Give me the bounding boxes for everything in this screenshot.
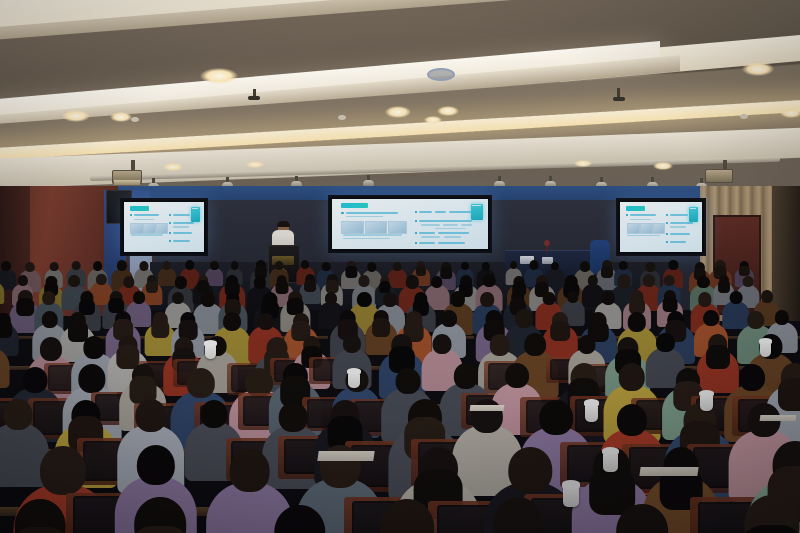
audience-member-hair bbox=[326, 280, 339, 293]
downlight-icon bbox=[424, 116, 442, 124]
audience-member bbox=[464, 497, 570, 533]
handout-paper[interactable] bbox=[317, 451, 374, 461]
audience-member-head bbox=[617, 274, 630, 288]
audience-member-head bbox=[431, 276, 443, 288]
audience-member-head bbox=[274, 505, 325, 533]
audience-member-head bbox=[223, 312, 241, 331]
audience-member-head bbox=[322, 262, 331, 271]
audience-member-head bbox=[135, 399, 166, 432]
audience-member-head bbox=[175, 276, 187, 289]
slide-title-badge bbox=[341, 203, 368, 208]
audience-member-head bbox=[383, 292, 397, 307]
downlight-icon bbox=[653, 162, 673, 170]
teacup-lid bbox=[204, 340, 217, 346]
downlight-icon bbox=[437, 106, 459, 116]
audience-member-head bbox=[656, 333, 674, 352]
audience-member-head bbox=[185, 260, 195, 270]
audience-member-head bbox=[83, 336, 104, 358]
audience-member-head bbox=[358, 275, 369, 287]
audience-member-head bbox=[742, 276, 753, 287]
audience-member-head bbox=[646, 262, 655, 272]
audience-member bbox=[0, 274, 4, 304]
smoke-detector-icon bbox=[740, 114, 748, 119]
downlight-icon bbox=[163, 163, 183, 171]
audience-member-head bbox=[616, 404, 646, 436]
teacup-lid bbox=[562, 480, 580, 488]
ceiling-projector-right bbox=[716, 160, 733, 183]
audience-member-head bbox=[587, 275, 597, 286]
audience-member-head bbox=[406, 275, 418, 288]
audience-member-head bbox=[461, 262, 469, 270]
audience-member-head bbox=[451, 291, 465, 306]
audience-member-head bbox=[25, 262, 35, 273]
audience-member-head bbox=[510, 261, 518, 269]
audience-member-head bbox=[380, 499, 434, 533]
audience-member-head bbox=[357, 292, 371, 307]
audience-member-head bbox=[275, 261, 284, 270]
audience-member-head bbox=[68, 275, 80, 287]
audience-member-head bbox=[729, 291, 742, 305]
audience-member-hair bbox=[379, 281, 391, 293]
teacup-lid bbox=[759, 338, 772, 344]
audience-member-head bbox=[50, 262, 59, 271]
audience-member-head bbox=[17, 275, 27, 286]
audience-member-head bbox=[529, 260, 538, 270]
audience-member-head bbox=[137, 445, 175, 486]
seated-audience bbox=[0, 255, 800, 533]
audience-member-head bbox=[367, 262, 377, 272]
teacup-lid bbox=[699, 390, 714, 397]
audience-member-head bbox=[579, 261, 589, 272]
ceiling-mount-icon bbox=[613, 97, 625, 101]
lidded-teacup[interactable] bbox=[603, 453, 618, 472]
audience-member-head bbox=[96, 274, 106, 285]
audience-member-head bbox=[40, 446, 86, 495]
audience-member-head bbox=[703, 310, 719, 327]
ceiling-mount-icon bbox=[248, 96, 260, 100]
audience-member-head bbox=[698, 292, 711, 306]
main-projection-screen bbox=[328, 195, 492, 253]
audience-member-head bbox=[739, 364, 765, 391]
lidded-teacup[interactable] bbox=[563, 487, 579, 507]
lidded-teacup[interactable] bbox=[205, 345, 216, 359]
handout-paper[interactable] bbox=[470, 405, 505, 411]
audience-member-head bbox=[201, 400, 228, 429]
downlight-icon bbox=[385, 106, 411, 118]
ceiling-projector-left bbox=[124, 160, 142, 184]
audience-member-head bbox=[254, 276, 266, 289]
lidded-teacup[interactable] bbox=[700, 395, 713, 411]
audience-member-head bbox=[117, 260, 127, 271]
audience-member-head bbox=[393, 262, 402, 271]
audience-member-head bbox=[42, 291, 56, 305]
downlight-icon bbox=[780, 108, 800, 118]
audience-member-head bbox=[1, 261, 11, 271]
audience-member-head bbox=[669, 260, 678, 270]
slide-thumbnail bbox=[388, 221, 407, 234]
slide-thumbnail bbox=[365, 221, 387, 234]
downlight-icon bbox=[200, 68, 238, 84]
downlight-icon bbox=[62, 110, 90, 122]
downlight-icon bbox=[574, 160, 592, 167]
audience-member-head bbox=[664, 275, 675, 286]
conference-hall-photo bbox=[0, 0, 800, 533]
audience-member-head bbox=[567, 291, 578, 303]
ceiling bbox=[0, 0, 800, 200]
audience-member-body bbox=[0, 282, 4, 304]
left-projection-screen bbox=[120, 198, 208, 256]
audience-member-head bbox=[747, 311, 765, 330]
audience-member-head bbox=[231, 261, 239, 269]
teacup-lid bbox=[584, 399, 599, 406]
audience-member-head bbox=[432, 334, 451, 354]
audience-member-head bbox=[40, 337, 62, 360]
audience-member-head bbox=[93, 261, 103, 271]
audience-member-head bbox=[201, 292, 215, 307]
audience-member-head bbox=[139, 261, 148, 271]
lidded-teacup[interactable] bbox=[348, 373, 360, 388]
audience-member-head bbox=[619, 261, 627, 270]
audience-member-head bbox=[482, 262, 491, 271]
audience-member-head bbox=[210, 261, 218, 270]
audience-member-head bbox=[643, 274, 655, 287]
audience-member-head bbox=[505, 363, 529, 388]
audience-member bbox=[244, 505, 357, 533]
audience-member-head bbox=[3, 399, 32, 430]
audience-member-head bbox=[509, 447, 552, 493]
audience-member-head bbox=[761, 290, 773, 303]
ceiling-vent-icon bbox=[427, 68, 455, 81]
audience-member-head bbox=[133, 291, 145, 304]
audience-member-head bbox=[395, 368, 420, 394]
audience-member-head bbox=[543, 292, 556, 305]
smoke-detector-icon bbox=[338, 115, 346, 120]
lidded-teacup[interactable] bbox=[585, 405, 598, 422]
slide-thumbnail bbox=[341, 221, 363, 234]
audience-member bbox=[712, 495, 800, 533]
audience-member-head bbox=[775, 310, 789, 325]
audience-member bbox=[348, 499, 466, 533]
audience-member-head bbox=[524, 333, 546, 356]
audience-member-head bbox=[697, 276, 709, 289]
teacup-lid bbox=[347, 368, 361, 374]
audience-member-head bbox=[187, 368, 215, 398]
downlight-icon bbox=[246, 161, 264, 168]
audience-member-head bbox=[483, 274, 496, 287]
audience-member-head bbox=[515, 309, 533, 328]
audience-member-head bbox=[602, 291, 615, 304]
audience-member-head bbox=[480, 292, 494, 307]
audience-member-head bbox=[325, 292, 337, 305]
audience-member-hair bbox=[739, 266, 749, 277]
audience-member-head bbox=[163, 261, 171, 270]
audience-member-head bbox=[578, 335, 595, 353]
audience-member-head bbox=[343, 334, 361, 353]
audience-member-head bbox=[454, 363, 478, 389]
teal-report-cover bbox=[471, 204, 483, 220]
lidded-teacup[interactable] bbox=[760, 343, 771, 357]
right-slide-surface bbox=[620, 202, 702, 252]
handout-paper[interactable] bbox=[639, 467, 698, 476]
audience-member-hair bbox=[197, 280, 209, 292]
left-slide-surface bbox=[124, 202, 204, 252]
smoke-detector-icon bbox=[131, 117, 139, 122]
presenter-hair bbox=[277, 221, 290, 227]
audience-member-head bbox=[551, 262, 559, 271]
downlight-icon bbox=[742, 62, 774, 76]
teacup-lid bbox=[602, 447, 619, 455]
audience-member bbox=[104, 497, 217, 533]
audience-member-head bbox=[539, 400, 573, 436]
audience-member-head bbox=[229, 449, 270, 492]
downlight-icon bbox=[110, 112, 132, 122]
main-slide-surface bbox=[332, 199, 488, 249]
audience-member-head bbox=[258, 313, 275, 331]
audience-member-head bbox=[123, 276, 134, 288]
audience-member-head bbox=[79, 364, 106, 393]
audience-member-head bbox=[72, 261, 81, 270]
audience-member-head bbox=[616, 504, 668, 533]
audience-member-hair bbox=[152, 320, 169, 338]
handout-paper[interactable] bbox=[760, 415, 797, 421]
audience-member-head bbox=[619, 363, 645, 391]
audience-member-head bbox=[441, 310, 457, 327]
audience-member-head bbox=[172, 292, 184, 305]
audience-member-head bbox=[628, 312, 646, 332]
right-projection-screen bbox=[616, 198, 706, 256]
audience-member-head bbox=[279, 402, 308, 432]
audience-member-head bbox=[490, 334, 510, 356]
audience-member bbox=[585, 504, 699, 533]
audience-member bbox=[0, 499, 96, 533]
microphone-head-icon bbox=[544, 240, 550, 246]
audience-member-head bbox=[23, 367, 48, 393]
